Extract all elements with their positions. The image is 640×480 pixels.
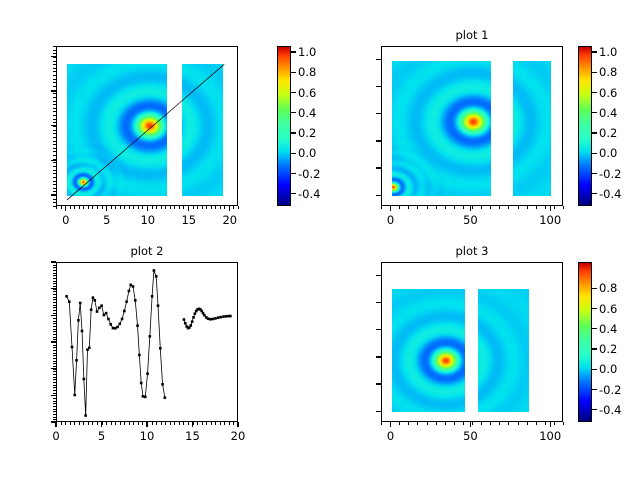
plot2-ytick-minor — [53, 358, 56, 359]
panel-top-left-xtick-minor — [142, 206, 143, 209]
panel-top-right-xtick-minor — [408, 206, 409, 209]
panel-bottom-right-xtick-minor — [427, 422, 428, 425]
plot2-xtick-minor — [74, 422, 75, 425]
panel-bottom-right-xtick-minor — [417, 422, 418, 425]
plot2-xtick-minor — [152, 422, 153, 425]
plot2-xtick-minor — [215, 422, 216, 425]
panel-top-left-xtick-minor — [188, 206, 189, 209]
plot2-marker — [151, 295, 154, 298]
panel-top-right-image-block — [513, 61, 551, 197]
plot2-ytick-minor — [53, 382, 56, 383]
panel-top-left-ytick-minor — [53, 141, 56, 142]
plot2-ytick-minor — [53, 321, 56, 322]
panel-top-left-xticklabel: 15 — [181, 213, 196, 227]
figure-canvas: 05101520051015201.00.80.60.40.20.0-0.2-0… — [0, 0, 640, 480]
panel-bottom-right-xtick-minor — [481, 422, 482, 425]
plot2-ytick-minor — [53, 411, 56, 412]
panel-top-left-colorbar-ticklabel: 0.8 — [298, 65, 316, 79]
panel-top-left-xtick-minor — [97, 206, 98, 209]
panel-top-right-colorbar[interactable] — [578, 46, 592, 206]
plot2-ytick-minor — [53, 398, 56, 399]
plot2-marker — [153, 269, 156, 272]
panel-top-right-colorbar-tick — [592, 72, 597, 73]
plot2-ytick-minor — [53, 307, 56, 308]
plot2-marker — [114, 327, 117, 330]
plot2-line — [67, 270, 165, 415]
panel-top-left-colorbar-tick — [291, 132, 296, 133]
panel-top-right-xtick-minor — [563, 206, 564, 209]
panel-top-left-diagonal-line — [57, 47, 238, 206]
plot2-xticklabel: 10 — [140, 429, 155, 443]
panel-bottom-right-colorbar-tick — [592, 409, 597, 410]
plot2-marker — [123, 310, 126, 313]
plot2-marker — [184, 322, 187, 325]
plot2-ytick-minor — [53, 347, 56, 348]
panel-top-left-colorbar-ticklabel: -0.2 — [298, 167, 320, 181]
plot2-marker — [96, 310, 99, 313]
plot2-ytick-minor — [53, 278, 56, 279]
panel-top-right-xtick-minor — [490, 206, 491, 209]
panel-top-right-xtick-minor — [381, 206, 382, 209]
panel-top-right-xtick-minor — [536, 206, 537, 209]
plot2-xtick-minor — [170, 422, 171, 425]
plot2-marker — [138, 354, 141, 357]
plot2-ytick-minor — [53, 297, 56, 298]
panel-top-right-xtick-minor — [399, 206, 400, 209]
panel-top-right-xtick — [550, 206, 551, 211]
panel-top-right-xtick-minor — [554, 206, 555, 209]
panel-top-right-axes — [381, 46, 563, 206]
plot2-marker — [189, 324, 192, 327]
plot2-ytick-minor — [53, 267, 56, 268]
panel-top-left-ytick-minor — [53, 111, 56, 112]
plot2-marker — [134, 299, 137, 302]
plot2-ytick-minor — [53, 275, 56, 276]
plot2-xtick-minor — [188, 422, 189, 425]
plot2-xtick-minor — [65, 422, 66, 425]
panel-bottom-right-xtick — [550, 422, 551, 427]
panel-top-left-xtick-minor — [61, 206, 62, 209]
panel-top-left-xtick-minor — [224, 206, 225, 209]
panel-top-left-ytick-minor — [53, 53, 56, 54]
panel-bottom-right-xtick-minor — [445, 422, 446, 425]
panel-top-right-colorbar-ticklabel: 0.0 — [599, 146, 617, 160]
panel-top-left-xtick-minor — [165, 206, 166, 209]
panel-top-left-ytick-minor — [53, 170, 56, 171]
panel-top-left-ytick-minor — [53, 191, 56, 192]
plot2-ytick-minor — [53, 353, 56, 354]
plot2-xtick-minor — [111, 422, 112, 425]
panel-bottom-right-xtick-minor — [527, 422, 528, 425]
panel-top-left-ytick-minor — [53, 104, 56, 105]
plot2-marker — [88, 347, 91, 350]
plot2-marker — [116, 326, 119, 329]
plot2-ytick-minor — [53, 286, 56, 287]
plot2-ytick-minor — [53, 419, 56, 420]
panel-bottom-right-xtick-minor — [499, 422, 500, 425]
panel-top-right-ytick — [376, 167, 381, 168]
plot2-xtick-minor — [83, 422, 84, 425]
panel-top-left-ytick-minor — [53, 57, 56, 58]
panel-bottom-right-colorbar-tick — [592, 348, 597, 349]
plot2-ytick-minor — [53, 403, 56, 404]
plot2-ytick-minor — [53, 339, 56, 340]
plot2-ytick-minor — [53, 262, 56, 263]
panel-top-left-ytick-minor — [53, 133, 56, 134]
plot2-marker — [121, 318, 124, 321]
panel-top-right-colorbar-ticklabel: -0.2 — [599, 167, 621, 181]
panel-bottom-right-colorbar-tick — [592, 369, 597, 370]
plot2-marker — [220, 316, 223, 319]
panel-top-right-xtick-minor — [481, 206, 482, 209]
panel-top-left-xtick-minor — [106, 206, 107, 209]
panel-top-left-xtick-minor — [70, 206, 71, 209]
plot2-ytick-minor — [53, 294, 56, 295]
plot2-ytick-minor — [53, 318, 56, 319]
panel-top-left-ytick-minor — [53, 159, 56, 160]
panel-top-left-ytick-minor — [53, 75, 56, 76]
panel-bottom-right-colorbar-ticklabel: -0.4 — [599, 403, 621, 417]
panel-top-left-xtick-minor — [88, 206, 89, 209]
panel-top-left-ytick-minor — [53, 108, 56, 109]
plot2-marker — [98, 307, 101, 310]
panel-bottom-right-xtick-minor — [454, 422, 455, 425]
panel-top-right-ytick — [376, 113, 381, 114]
plot2-ytick-minor — [53, 281, 56, 282]
plot2-xtick-minor — [238, 422, 239, 425]
plot2-ytick-minor — [53, 283, 56, 284]
panel-bottom-right-xtick-minor — [518, 422, 519, 425]
plot2-marker — [93, 299, 96, 302]
panel-top-left-xtick-minor — [129, 206, 130, 209]
plot2-marker — [132, 285, 135, 288]
panel-bottom-right-colorbar[interactable] — [578, 262, 592, 422]
panel-bottom-right-axes — [381, 262, 563, 422]
panel-top-left-xtick-minor — [170, 206, 171, 209]
panel-top-left-colorbar-ticklabel: 0.0 — [298, 146, 316, 160]
panel-top-left-xtick-minor — [124, 206, 125, 209]
panel-bottom-right-xtick-minor — [390, 422, 391, 425]
plot2-ytick-minor — [53, 363, 56, 364]
panel-bottom-right-xticklabel: 0 — [387, 429, 394, 443]
panel-top-left-ytick-minor — [53, 173, 56, 174]
plot2-xtick-minor — [229, 422, 230, 425]
plot2-ytick-minor — [53, 302, 56, 303]
plot2-ytick-minor — [53, 291, 56, 292]
panel-top-left-ytick-minor — [53, 195, 56, 196]
panel-top-left-xtick-minor — [74, 206, 75, 209]
panel-top-right-xtick-minor — [518, 206, 519, 209]
plot2-ytick-minor — [53, 315, 56, 316]
plot2-xtick-minor — [197, 422, 198, 425]
panel-top-left-ytick-minor — [53, 144, 56, 145]
panel-top-right-ytick — [376, 195, 381, 196]
panel-top-right-colorbar-tick — [592, 51, 597, 52]
panel-top-left-xtick-minor — [161, 206, 162, 209]
plot2-xtick-minor — [92, 422, 93, 425]
plot2-marker — [142, 395, 145, 398]
panel-top-right-xtick-minor — [508, 206, 509, 209]
panel-bottom-right-image-block — [478, 289, 529, 412]
panel-bottom-right-xtick-minor — [408, 422, 409, 425]
panel-top-right-image-block — [392, 61, 491, 197]
panel-bottom-right-xtick-minor — [436, 422, 437, 425]
panel-bottom-right-colorbar-ticklabel: 0.8 — [599, 281, 617, 295]
plot2-xticklabel: 15 — [185, 429, 200, 443]
panel-top-left-colorbar-tick — [291, 92, 296, 93]
panel-bottom-right-colorbar-ticklabel: 0.4 — [599, 322, 617, 336]
panel-top-left-xtick-minor — [147, 206, 148, 209]
panel-bottom-right-xticklabel: 50 — [463, 429, 478, 443]
panel-top-left-xtick-minor — [152, 206, 153, 209]
plot2-ytick-minor — [53, 289, 56, 290]
plot2-xtick-minor — [142, 422, 143, 425]
panel-top-right-xtick-minor — [545, 206, 546, 209]
plot2-xtick-minor — [211, 422, 212, 425]
panel-top-left-xtick-minor — [206, 206, 207, 209]
panel-bottom-right-colorbar-ticklabel: 0.6 — [599, 302, 617, 316]
plot2-marker — [129, 284, 132, 287]
panel-bottom-right-image-block — [392, 289, 465, 412]
panel-top-right-colorbar-ticklabel: 0.6 — [599, 86, 617, 100]
plot2-ytick-minor — [53, 313, 56, 314]
plot2-marker — [225, 315, 228, 318]
panel-top-left-ytick-minor — [53, 115, 56, 116]
plot2-xtick-minor — [220, 422, 221, 425]
plot2-marker — [118, 323, 121, 326]
panel-top-left-xtick-minor — [197, 206, 198, 209]
panel-top-right-colorbar-tick — [592, 193, 597, 194]
panel-top-left-xtick-minor — [102, 206, 103, 209]
plot2-ytick-minor — [53, 406, 56, 407]
panel-top-left-ytick-minor — [53, 79, 56, 80]
panel-top-right-colorbar-ticklabel: 1.0 — [599, 45, 617, 59]
plot2-ytick-minor — [53, 393, 56, 394]
plot2-ytick-minor — [53, 355, 56, 356]
plot2-marker — [68, 300, 71, 303]
panel-bottom-right-xticklabel: 100 — [539, 429, 561, 443]
panel-top-right-xticklabel: 0 — [387, 213, 394, 227]
plot2-marker — [90, 308, 93, 311]
panel-top-right-xticklabel: 50 — [463, 213, 478, 227]
panel-top-left-ytick-minor — [53, 137, 56, 138]
panel-top-left-ytick-minor — [53, 130, 56, 131]
plot2-xtick-minor — [147, 422, 148, 425]
plot2-ytick-minor — [53, 305, 56, 306]
plot2-ytick-minor — [53, 270, 56, 271]
plot2-xtick-minor — [183, 422, 184, 425]
panel-top-left-ytick-minor — [53, 181, 56, 182]
panel-bottom-right-colorbar-ticklabel: -0.2 — [599, 383, 621, 397]
panel-top-right-xtick-minor — [390, 206, 391, 209]
panel-top-right-xtick-minor — [499, 206, 500, 209]
plot2-marker — [71, 346, 74, 349]
panel-top-right-xtick-minor — [417, 206, 418, 209]
plot2-ytick-minor — [53, 371, 56, 372]
plot2-xtick-minor — [70, 422, 71, 425]
plot2-marker — [84, 414, 87, 417]
panel-top-left-ytick-minor — [53, 202, 56, 203]
plot2-marker — [209, 318, 212, 321]
plot2-marker — [128, 290, 131, 293]
panel-top-right-ytick — [376, 59, 381, 60]
plot2-ytick-minor — [53, 323, 56, 324]
panel-bottom-right-xtick-minor — [508, 422, 509, 425]
panel-top-right-colorbar-tick — [592, 173, 597, 174]
panel-top-left-xticklabel: 20 — [222, 213, 237, 227]
panel-top-left-xtick-minor — [120, 206, 121, 209]
plot2-marker — [92, 296, 95, 299]
plot2-xtick-minor — [224, 422, 225, 425]
panel-top-left-colorbar-tick — [291, 153, 296, 154]
plot2-ytick-minor — [53, 310, 56, 311]
panel-top-left-ytick-minor — [53, 188, 56, 189]
panel-top-left-ytick-minor — [53, 86, 56, 87]
plot2-xtick-minor — [138, 422, 139, 425]
panel-top-left-xtick-minor — [83, 206, 84, 209]
panel-top-left-colorbar-ticklabel: -0.4 — [298, 187, 320, 201]
plot2-marker — [83, 378, 86, 381]
panel-top-left-colorbar-ticklabel: 0.6 — [298, 86, 316, 100]
plot2-marker — [159, 347, 162, 350]
plot2-xtick-minor — [133, 422, 134, 425]
panel-bottom-right-xtick-minor — [399, 422, 400, 425]
plot2-marker — [217, 316, 220, 319]
panel-top-left-xtick-minor — [183, 206, 184, 209]
panel-top-right-title: plot 1 — [381, 28, 563, 42]
plot2-marker — [164, 396, 167, 399]
panel-bottom-right-xtick-minor — [563, 422, 564, 425]
panel-top-left-xtick-minor — [156, 206, 157, 209]
panel-top-right-xtick-minor — [427, 206, 428, 209]
panel-top-left-ytick-minor — [53, 119, 56, 120]
panel-top-left-ytick-minor — [53, 64, 56, 65]
plot2-marker — [77, 319, 80, 322]
plot2-ytick-minor — [53, 422, 56, 423]
panel-bottom-right-xtick-minor — [545, 422, 546, 425]
plot2-marker — [73, 394, 76, 397]
plot2-xtick-minor — [179, 422, 180, 425]
panel-top-left-ytick-minor — [53, 101, 56, 102]
plot2-marker — [194, 312, 197, 315]
panel-bottom-right-xtick-minor — [536, 422, 537, 425]
panel-top-left-axes — [56, 46, 238, 206]
panel-top-left-ytick-minor — [53, 206, 56, 207]
panel-top-left-colorbar-tick — [291, 112, 296, 113]
panel-top-left-ytick-minor — [53, 71, 56, 72]
plot2-marker — [107, 318, 110, 321]
plot2-ytick-minor — [53, 374, 56, 375]
panel-bottom-right-xtick — [470, 422, 471, 427]
panel-bottom-right-ytick — [376, 329, 381, 330]
panel-top-right-xtick-minor — [445, 206, 446, 209]
panel-top-left-colorbar[interactable] — [277, 46, 291, 206]
plot2-ytick-minor — [53, 366, 56, 367]
plot2-marker — [112, 327, 115, 330]
panel-top-left-colorbar-tick — [291, 193, 296, 194]
plot2-title: plot 2 — [56, 244, 238, 258]
plot2-xticklabel: 5 — [98, 429, 105, 443]
plot2-xtick-minor — [97, 422, 98, 425]
panel-bottom-right-colorbar-ticklabel: 0.2 — [599, 342, 617, 356]
plot2-marker — [214, 317, 217, 320]
plot2-ytick-minor — [53, 377, 56, 378]
panel-bottom-right-ytick — [376, 302, 381, 303]
panel-top-left-colorbar-ticklabel: 1.0 — [298, 45, 316, 59]
panel-top-right-colorbar-ticklabel: 0.2 — [599, 126, 617, 140]
plot2-ytick-minor — [53, 273, 56, 274]
panel-bottom-right-ytick — [376, 275, 381, 276]
panel-top-right-xtick-minor — [527, 206, 528, 209]
plot2-ytick-minor — [53, 331, 56, 332]
plot2-marker — [100, 304, 103, 307]
panel-bottom-right-ytick — [376, 411, 381, 412]
plot2-ytick-minor — [53, 326, 56, 327]
plot2-ytick-minor — [53, 342, 56, 343]
plot2-marker — [207, 317, 210, 320]
plot2-marker — [211, 318, 214, 321]
panel-top-left-xtick-minor — [79, 206, 80, 209]
panel-top-right-ytick — [376, 140, 381, 141]
plot2-xtick-minor — [156, 422, 157, 425]
plot2-marker — [79, 302, 82, 305]
panel-top-left-xtick-minor — [56, 206, 57, 209]
plot2-ytick-minor — [53, 337, 56, 338]
panel-bottom-right-colorbar-tick — [592, 389, 597, 390]
panel-top-left-ytick-minor — [53, 184, 56, 185]
panel-top-left-ytick-minor — [53, 122, 56, 123]
panel-top-left-ytick-minor — [53, 82, 56, 83]
panel-top-right-colorbar-ticklabel: -0.4 — [599, 187, 621, 201]
panel-top-left-ytick-minor — [53, 148, 56, 149]
panel-top-left-ytick-minor — [53, 126, 56, 127]
panel-top-left-xtick-minor — [65, 206, 66, 209]
plot2-marker — [81, 330, 84, 333]
plot2-ytick-minor — [53, 387, 56, 388]
panel-top-left-ytick-minor — [53, 50, 56, 51]
panel-bottom-right-xtick-minor — [472, 422, 473, 425]
panel-top-left-xtick-minor — [92, 206, 93, 209]
panel-top-right-colorbar-tick — [592, 153, 597, 154]
plot2-marker — [103, 314, 106, 317]
panel-top-left-ytick — [51, 160, 56, 161]
panel-top-right-ytick — [376, 86, 381, 87]
panel-bottom-right-xtick-minor — [381, 422, 382, 425]
panel-top-left-xtick-minor — [233, 206, 234, 209]
plot2-series-group — [57, 263, 238, 422]
panel-top-left-xtick-minor — [133, 206, 134, 209]
panel-top-left-ytick-minor — [53, 151, 56, 152]
panel-top-left-ytick-minor — [53, 68, 56, 69]
panel-top-left-ytick-minor — [53, 97, 56, 98]
plot2-marker — [109, 323, 112, 326]
plot2-ytick-minor — [53, 390, 56, 391]
plot2-xtick-minor — [193, 422, 194, 425]
panel-top-left-xtick-minor — [202, 206, 203, 209]
panel-top-left-xticklabel: 0 — [62, 213, 69, 227]
plot2-marker — [146, 372, 149, 375]
panel-top-left-xtick-minor — [179, 206, 180, 209]
panel-top-left-colorbar-ticklabel: 0.2 — [298, 126, 316, 140]
plot2-xtick-minor — [129, 422, 130, 425]
plot2-xtick-minor — [56, 422, 57, 425]
plot2-marker — [140, 382, 143, 385]
plot2-ytick-minor — [53, 299, 56, 300]
panel-top-left-ytick-minor — [53, 162, 56, 163]
panel-top-left-xtick-minor — [174, 206, 175, 209]
panel-top-left-ytick-minor — [53, 199, 56, 200]
panel-top-right-xtick-minor — [472, 206, 473, 209]
